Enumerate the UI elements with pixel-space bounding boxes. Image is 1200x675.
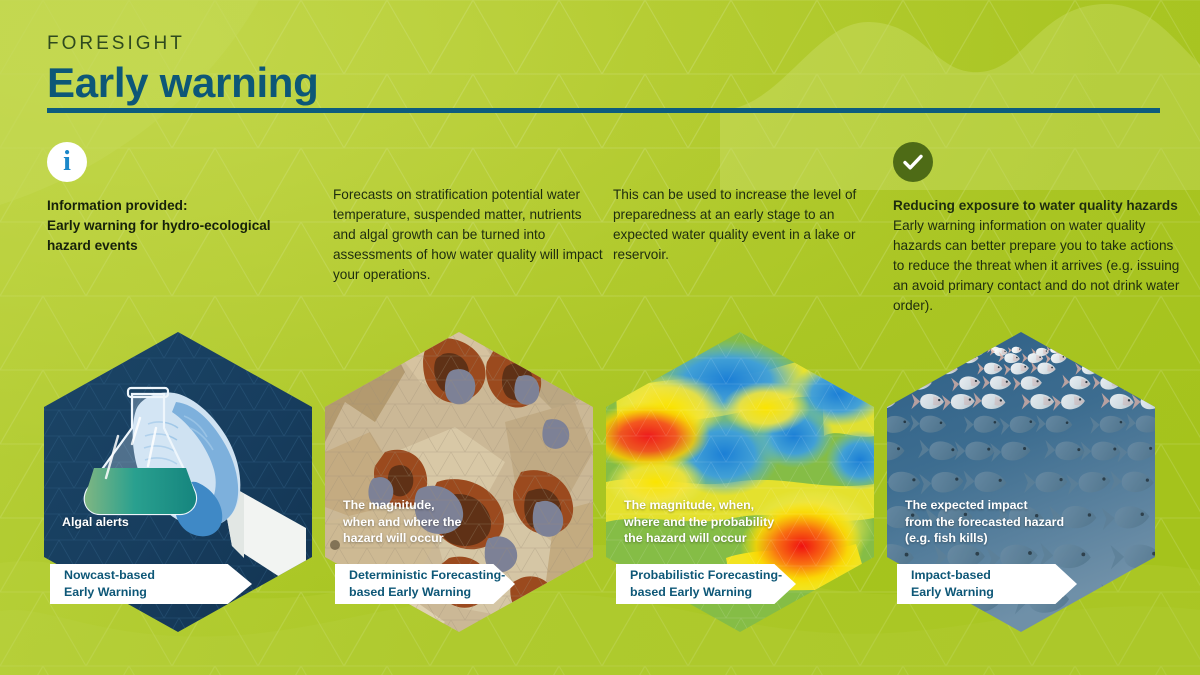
hexagon-caption-deterministic: The magnitude, when and where the hazard… xyxy=(343,497,553,547)
hexagon-banner-probabilistic[interactable]: Probabilistic Forecasting- based Early W… xyxy=(616,564,796,604)
banner-line-1: Nowcast-based xyxy=(64,567,252,584)
hexagon-caption-nowcast: Algal alerts xyxy=(62,514,272,531)
hexagon-card-nowcast[interactable]: Algal alerts Nowcast-based Early Warning xyxy=(44,332,312,632)
banner-line-2: based Early Warning xyxy=(349,584,515,601)
banner-line-2: based Early Warning xyxy=(630,584,796,601)
hexagon-card-probabilistic[interactable]: The magnitude, when, where and the proba… xyxy=(606,332,874,632)
hexagon-card-impact[interactable]: The expected impact from the forecasted … xyxy=(887,332,1155,632)
banner-line-1: Impact-based xyxy=(911,567,1077,584)
banner-line-1: Deterministic Forecasting- xyxy=(349,567,515,584)
infographic-stage: FORESIGHT Early warning i Information pr… xyxy=(0,0,1200,675)
hexagon-caption-impact: The expected impact from the forecasted … xyxy=(905,497,1115,547)
banner-line-2: Early Warning xyxy=(911,584,1077,601)
hexagon-banner-impact[interactable]: Impact-based Early Warning xyxy=(897,564,1077,604)
banner-line-1: Probabilistic Forecasting- xyxy=(630,567,796,584)
banner-line-2: Early Warning xyxy=(64,584,252,601)
hexagon-card-deterministic[interactable]: The magnitude, when and where the hazard… xyxy=(325,332,593,632)
hexagon-banner-deterministic[interactable]: Deterministic Forecasting- based Early W… xyxy=(335,564,515,604)
hexagon-caption-probabilistic: The magnitude, when, where and the proba… xyxy=(624,497,834,547)
hexagon-row: Algal alerts Nowcast-based Early Warning xyxy=(0,0,1200,675)
hexagon-banner-nowcast[interactable]: Nowcast-based Early Warning xyxy=(50,564,252,604)
